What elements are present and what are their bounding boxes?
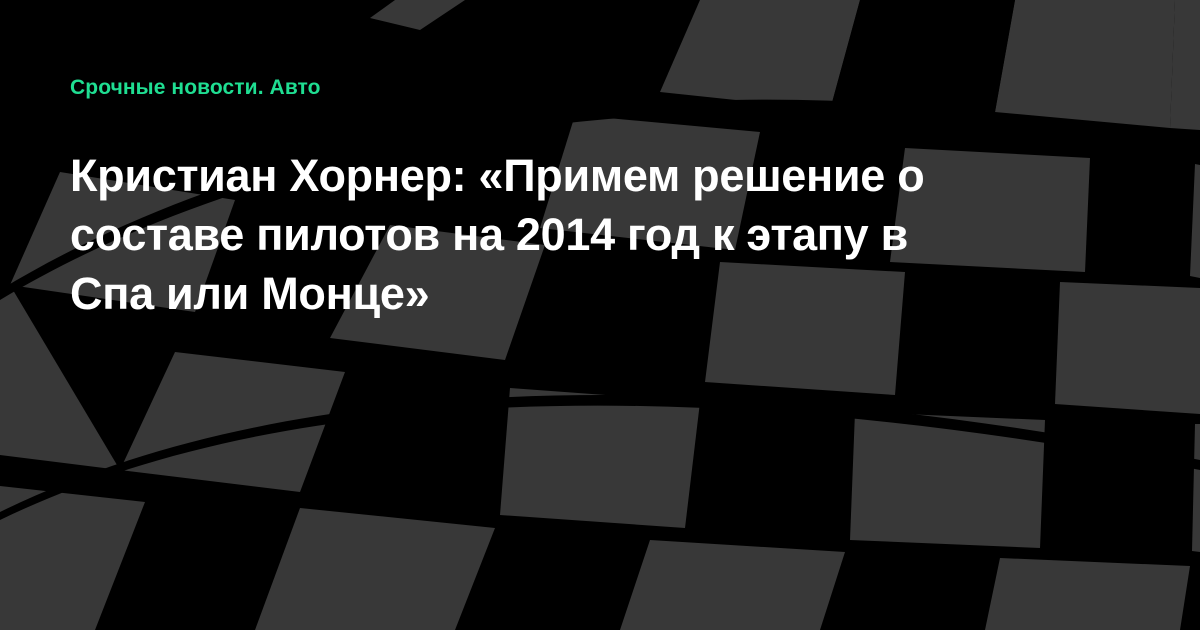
headline-line-2: составе пилотов на 2014 год к этапу в <box>70 205 1045 264</box>
headline-line-1: Кристиан Хорнер: «Примем решение о <box>70 146 1045 205</box>
news-share-card: Срочные новости. Авто Кристиан Хорнер: «… <box>0 0 1200 630</box>
headline: Кристиан Хорнер: «Примем решение о соста… <box>70 146 1045 323</box>
kicker-label: Срочные новости. Авто <box>70 74 1045 102</box>
card-content: Срочные новости. Авто Кристиан Хорнер: «… <box>70 74 1045 323</box>
headline-line-3: Спа или Монце» <box>70 264 1045 323</box>
